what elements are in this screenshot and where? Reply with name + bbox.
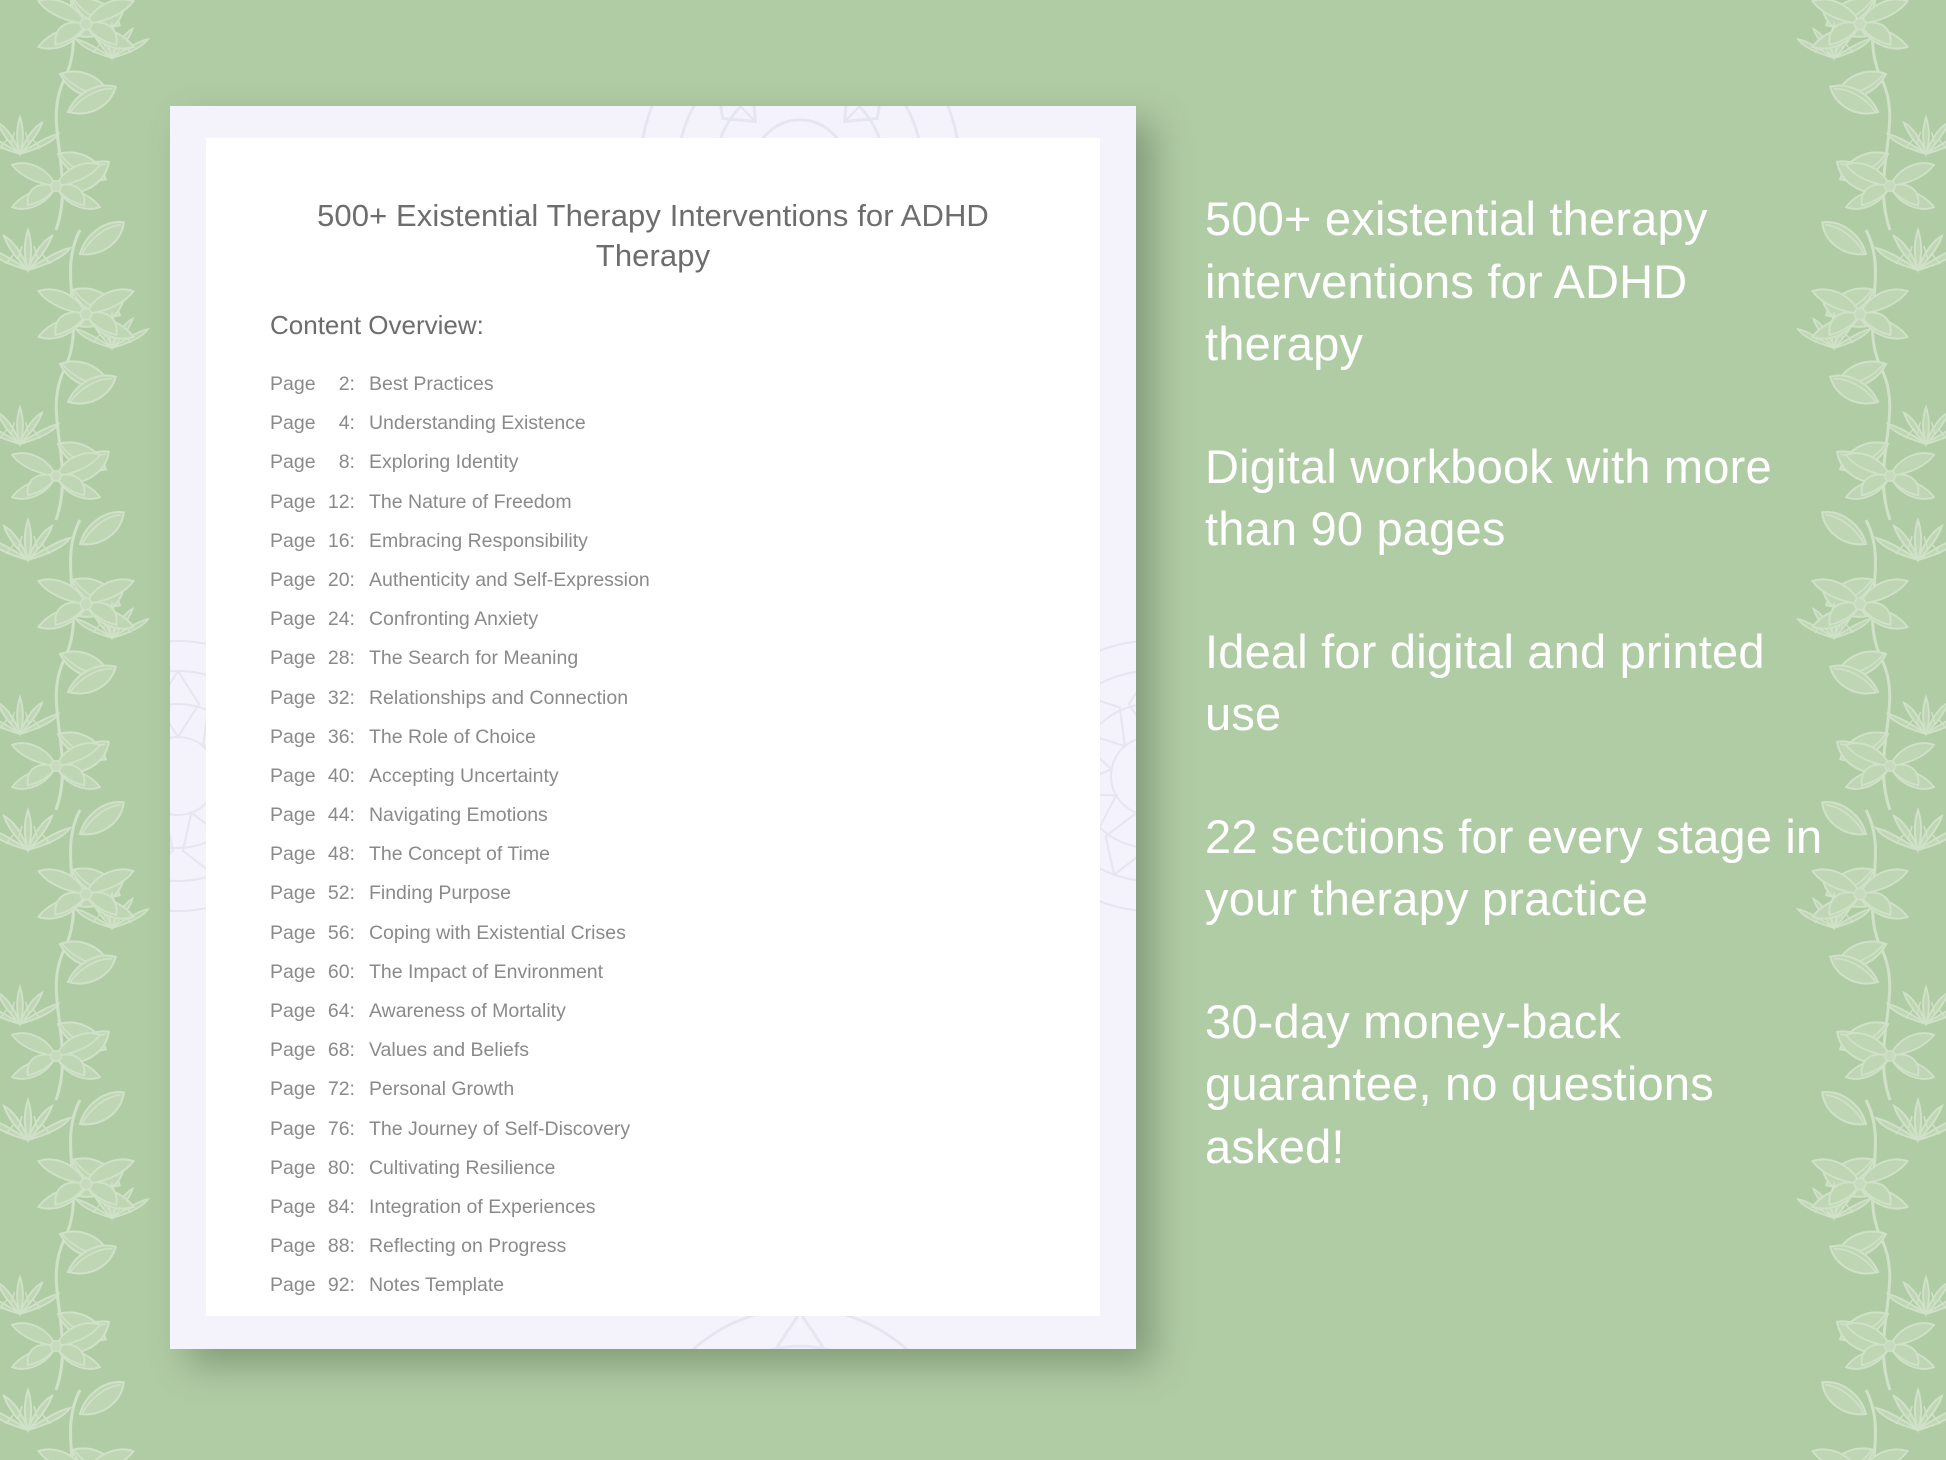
- toc-row: Page32:Relationships and Connection: [270, 687, 1060, 726]
- toc-section-title: Notes Template: [369, 1274, 504, 1297]
- toc-row: Page52:Finding Purpose: [270, 882, 1060, 921]
- toc-section-title: The Search for Meaning: [369, 647, 578, 670]
- toc-row: Page48:The Concept of Time: [270, 843, 1060, 882]
- toc-row: Page20:Authenticity and Self-Expression: [270, 569, 1060, 608]
- toc-page-number: 76: [316, 1118, 350, 1141]
- marketing-copy: 500+ existential therapy interventions f…: [1205, 188, 1845, 1178]
- toc-page-number: 40: [316, 765, 350, 788]
- toc-separator: :: [350, 530, 369, 553]
- toc-row: Page24:Confronting Anxiety: [270, 608, 1060, 647]
- toc-section-title: Exploring Identity: [369, 451, 519, 474]
- toc-section-title: Accepting Uncertainty: [369, 765, 559, 788]
- toc-row: Page2:Best Practices: [270, 373, 1060, 412]
- toc-separator: :: [350, 843, 369, 866]
- toc-page-word: Page: [270, 1157, 316, 1180]
- toc-page-word: Page: [270, 1274, 316, 1297]
- toc-page-number: 48: [316, 843, 350, 866]
- toc-page-number: 36: [316, 726, 350, 749]
- toc-page-word: Page: [270, 451, 316, 474]
- toc-page-number: 2: [316, 373, 350, 396]
- toc-page-word: Page: [270, 647, 316, 670]
- marketing-block: 22 sections for every stage in your ther…: [1205, 806, 1845, 931]
- document-page: 500+ Existential Therapy Interventions f…: [206, 138, 1100, 1316]
- toc-page-number: 52: [316, 882, 350, 905]
- toc-separator: :: [350, 451, 369, 474]
- toc-page-number: 44: [316, 804, 350, 827]
- toc-separator: :: [350, 882, 369, 905]
- toc-section-title: The Concept of Time: [369, 843, 550, 866]
- toc-section-title: Coping with Existential Crises: [369, 922, 626, 945]
- toc-separator: :: [350, 1274, 369, 1297]
- toc-row: Page72:Personal Growth: [270, 1078, 1060, 1117]
- toc-separator: :: [350, 1000, 369, 1023]
- toc-row: Page88:Reflecting on Progress: [270, 1235, 1060, 1274]
- toc-separator: :: [350, 1039, 369, 1062]
- toc-row: Page28:The Search for Meaning: [270, 647, 1060, 686]
- toc-page-word: Page: [270, 530, 316, 553]
- toc-separator: :: [350, 608, 369, 631]
- toc-page-number: 32: [316, 687, 350, 710]
- toc-page-word: Page: [270, 412, 316, 435]
- toc-page-number: 8: [316, 451, 350, 474]
- toc-page-word: Page: [270, 608, 316, 631]
- toc-section-title: Relationships and Connection: [369, 687, 628, 710]
- toc-separator: :: [350, 373, 369, 396]
- toc-section-title: The Role of Choice: [369, 726, 536, 749]
- toc-page-word: Page: [270, 491, 316, 514]
- toc-row: Page80:Cultivating Resilience: [270, 1157, 1060, 1196]
- toc-section-title: The Journey of Self-Discovery: [369, 1118, 630, 1141]
- toc-page-number: 60: [316, 961, 350, 984]
- toc-page-word: Page: [270, 1235, 316, 1258]
- toc-separator: :: [350, 569, 369, 592]
- toc-separator: :: [350, 765, 369, 788]
- marketing-block: 500+ existential therapy interventions f…: [1205, 188, 1845, 376]
- page-title: 500+ Existential Therapy Interventions f…: [270, 196, 1036, 277]
- toc-section-title: The Nature of Freedom: [369, 491, 572, 514]
- toc-separator: :: [350, 687, 369, 710]
- marketing-block: Ideal for digital and printed use: [1205, 621, 1845, 746]
- toc-page-word: Page: [270, 569, 316, 592]
- toc-page-word: Page: [270, 1196, 316, 1219]
- toc-separator: :: [350, 491, 369, 514]
- toc-page-word: Page: [270, 687, 316, 710]
- toc-separator: :: [350, 1078, 369, 1101]
- toc-separator: :: [350, 1196, 369, 1219]
- toc-section-title: Confronting Anxiety: [369, 608, 538, 631]
- toc-section-title: Personal Growth: [369, 1078, 514, 1101]
- toc-page-number: 56: [316, 922, 350, 945]
- toc-row: Page40:Accepting Uncertainty: [270, 765, 1060, 804]
- toc-section-title: Cultivating Resilience: [369, 1157, 555, 1180]
- toc-page-number: 12: [316, 491, 350, 514]
- toc-separator: :: [350, 1118, 369, 1141]
- toc-section-title: Embracing Responsibility: [369, 530, 588, 553]
- toc-page-number: 16: [316, 530, 350, 553]
- toc-row: Page16:Embracing Responsibility: [270, 530, 1060, 569]
- toc-separator: :: [350, 647, 369, 670]
- toc-section-title: Understanding Existence: [369, 412, 586, 435]
- toc-section-title: Finding Purpose: [369, 882, 511, 905]
- toc-section-title: Reflecting on Progress: [369, 1235, 566, 1258]
- toc-separator: :: [350, 922, 369, 945]
- toc-page-number: 20: [316, 569, 350, 592]
- toc-row: Page8:Exploring Identity: [270, 451, 1060, 490]
- toc-row: Page84:Integration of Experiences: [270, 1196, 1060, 1235]
- toc-page-number: 4: [316, 412, 350, 435]
- toc-page-number: 28: [316, 647, 350, 670]
- toc-page-word: Page: [270, 1039, 316, 1062]
- toc-page-word: Page: [270, 1118, 316, 1141]
- toc-separator: :: [350, 1235, 369, 1258]
- toc-page-number: 24: [316, 608, 350, 631]
- table-of-contents: Page2:Best PracticesPage4:Understanding …: [270, 373, 1060, 1314]
- toc-section-title: Integration of Experiences: [369, 1196, 596, 1219]
- toc-section-title: The Impact of Environment: [369, 961, 603, 984]
- marketing-block: Digital workbook with more than 90 pages: [1205, 436, 1845, 561]
- toc-page-word: Page: [270, 1078, 316, 1101]
- toc-row: Page56:Coping with Existential Crises: [270, 922, 1060, 961]
- toc-page-number: 88: [316, 1235, 350, 1258]
- toc-page-number: 92: [316, 1274, 350, 1297]
- toc-row: Page76:The Journey of Self-Discovery: [270, 1118, 1060, 1157]
- toc-page-number: 80: [316, 1157, 350, 1180]
- toc-separator: :: [350, 804, 369, 827]
- toc-section-title: Authenticity and Self-Expression: [369, 569, 650, 592]
- document-card[interactable]: 500+ Existential Therapy Interventions f…: [170, 106, 1136, 1349]
- toc-row: Page60:The Impact of Environment: [270, 961, 1060, 1000]
- toc-row: Page64:Awareness of Mortality: [270, 1000, 1060, 1039]
- toc-row: Page92:Notes Template: [270, 1274, 1060, 1313]
- toc-page-word: Page: [270, 373, 316, 396]
- toc-page-number: 68: [316, 1039, 350, 1062]
- toc-section-title: Awareness of Mortality: [369, 1000, 566, 1023]
- toc-page-number: 72: [316, 1078, 350, 1101]
- toc-row: Page36:The Role of Choice: [270, 726, 1060, 765]
- content-overview-label: Content Overview:: [270, 310, 484, 341]
- toc-page-word: Page: [270, 726, 316, 749]
- toc-page-number: 84: [316, 1196, 350, 1219]
- toc-row: Page12:The Nature of Freedom: [270, 491, 1060, 530]
- toc-section-title: Best Practices: [369, 373, 494, 396]
- toc-separator: :: [350, 412, 369, 435]
- toc-page-word: Page: [270, 961, 316, 984]
- toc-separator: :: [350, 1157, 369, 1180]
- toc-page-word: Page: [270, 843, 316, 866]
- toc-page-word: Page: [270, 882, 316, 905]
- toc-row: Page44:Navigating Emotions: [270, 804, 1060, 843]
- toc-page-word: Page: [270, 765, 316, 788]
- marketing-block: 30-day money-back guarantee, no question…: [1205, 991, 1845, 1179]
- toc-page-number: 64: [316, 1000, 350, 1023]
- toc-row: Page68:Values and Beliefs: [270, 1039, 1060, 1078]
- toc-separator: :: [350, 961, 369, 984]
- toc-page-word: Page: [270, 922, 316, 945]
- toc-page-word: Page: [270, 1000, 316, 1023]
- toc-section-title: Navigating Emotions: [369, 804, 548, 827]
- toc-section-title: Values and Beliefs: [369, 1039, 529, 1062]
- toc-separator: :: [350, 726, 369, 749]
- toc-page-word: Page: [270, 804, 316, 827]
- toc-row: Page4:Understanding Existence: [270, 412, 1060, 451]
